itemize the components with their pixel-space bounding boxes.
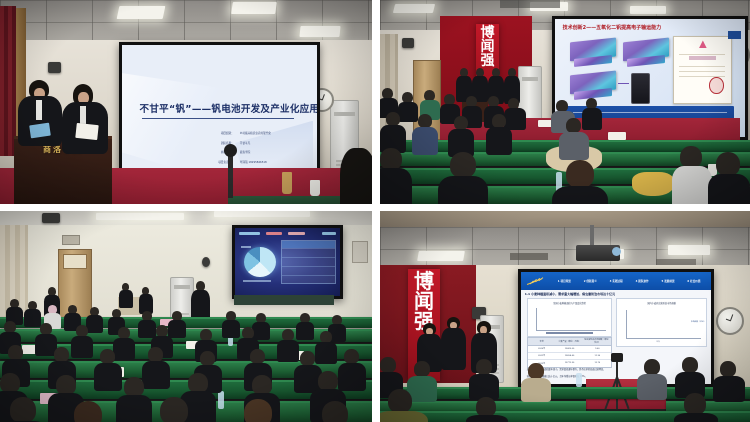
banner-char: 闻	[481, 40, 495, 54]
slide-title: 技术创新2——五氧化二钒提高电子输运能力	[563, 24, 661, 31]
foreground-person	[340, 148, 372, 204]
banner-char: 博	[414, 271, 434, 291]
patent-certificate	[673, 36, 732, 104]
meta-value: 乡村振兴和农业农村现代化	[240, 132, 271, 137]
panel-top-right: 博 闻 强 技术创新2——五氧化二钒提高电子输运能力	[380, 0, 750, 204]
chart-legend	[546, 332, 593, 334]
table-header-cell: 年份	[528, 338, 556, 345]
door-window	[63, 254, 86, 269]
meta-value: 华润瑞 18295846518	[240, 161, 267, 166]
wall-switch	[352, 241, 368, 263]
ceiling-vent	[500, 0, 560, 8]
drink-cup	[282, 172, 292, 194]
water-bottle	[576, 373, 582, 387]
ceiling-beam	[380, 211, 750, 227]
table-header	[282, 241, 335, 248]
table-cell: 2020年	[528, 345, 556, 352]
wall-speaker-icon	[42, 213, 60, 223]
pie-chart	[244, 247, 276, 277]
table-header-cell: 病虫害防治市场规模（单位：亿元）	[583, 338, 611, 345]
nav-item[interactable]: 3 实践过程	[610, 279, 623, 283]
slide-title: 不甘平“钒”——钒电池开发及产业化应用	[140, 101, 320, 115]
desk-paper	[608, 132, 626, 140]
table-cell: 2021年	[528, 352, 556, 359]
table-header-cell: 小麦产量（单位：万吨）	[556, 338, 584, 345]
projector-mount	[590, 225, 594, 247]
wall-speaker-icon	[402, 38, 414, 48]
data-table	[281, 240, 336, 284]
ceiling-vent	[510, 253, 548, 260]
held-document	[75, 123, 98, 140]
slide-navbar: 1 项目背景 2 创新意义 3 实践过程 4 团队协作 5 发展前景 6 社会价…	[521, 272, 711, 290]
meta-key: 项目组别：	[208, 132, 234, 137]
water-bottle	[218, 391, 224, 409]
banner-char: 博	[481, 26, 495, 40]
slide-badge-icon	[728, 31, 741, 39]
slide-meta-row: 项目负责人： 华润瑞 18295846518	[204, 161, 267, 166]
device-photo	[631, 73, 650, 103]
wall-speaker-icon	[48, 62, 61, 73]
ceiling-lamp	[630, 6, 666, 14]
presentation-screen: 不甘平“钒”——钒电池开发及产业化应用 项目组别： 乡村振兴和农业农村现代化 团…	[119, 42, 320, 188]
camera-tripod	[602, 353, 632, 413]
microphone-icon	[224, 144, 237, 157]
nav-item[interactable]: 6 社会价值	[687, 279, 700, 283]
certificate-logo-icon	[699, 40, 707, 48]
table-cell: 9.60	[583, 345, 611, 352]
wall-clock-icon	[716, 307, 744, 335]
certificate-heading	[689, 56, 716, 59]
table-cell: 13694.60	[556, 352, 584, 359]
panel-bottom-left	[0, 211, 372, 422]
title-underline	[142, 118, 294, 119]
certificate-seal-icon	[709, 77, 724, 94]
camera-icon	[202, 257, 210, 267]
bar-series	[536, 308, 606, 330]
banner-char: 闻	[414, 291, 434, 311]
meta-value: 不甘平凡	[240, 142, 250, 147]
bar-chart: 国内小麦病虫害防治市场规模 市场规模（亿元） 年份	[616, 298, 707, 347]
slide-logo-icon	[521, 272, 551, 290]
presentation-screen	[232, 225, 343, 299]
pie-label	[241, 246, 250, 249]
meta-value: 商洛学院	[240, 151, 250, 156]
chart-title: 全国小麦种植面积与产量变化趋势	[528, 301, 612, 305]
nav-item[interactable]: 4 团队协作	[636, 279, 649, 283]
ceiling-lamp	[96, 213, 184, 220]
slide-heading: 1.1 小麦种植面积减小，需求量大幅增加，病虫害防治市场达十亿元	[525, 292, 615, 296]
nav-item[interactable]: 2 创新意义	[584, 279, 597, 283]
held-document	[29, 123, 51, 139]
pie-label	[243, 280, 270, 283]
wheat-logo-icon	[526, 276, 547, 287]
side-curtain	[0, 6, 16, 156]
panel-bottom-right: 博 闻 强 1 项目背景 2 创新意义	[380, 211, 750, 422]
nav-item[interactable]: 5 发展前景	[661, 279, 674, 283]
ceiling-lamp	[214, 211, 310, 217]
camera-icon	[611, 353, 623, 362]
panel-top-left: 不甘平“钒”——钒电池开发及产业化应用 项目组别： 乡村振兴和农业农村现代化 团…	[0, 0, 372, 204]
slide-nav-items: 1 项目背景 2 创新意义 3 实践过程 4 团队协作 5 发展前景 6 社会价…	[551, 279, 711, 283]
wall-sign	[62, 235, 80, 245]
slide-meta-row: 项目组别： 乡村振兴和农业农村现代化	[208, 132, 271, 137]
table-cell: 13772.30	[556, 359, 584, 366]
table-row	[282, 275, 335, 285]
shirt	[36, 100, 42, 120]
ceiling-lamp	[417, 251, 465, 261]
chart-title: 国内小麦病虫害防治市场规模	[617, 301, 706, 305]
grouped-bar-chart: 全国小麦种植面积与产量变化趋势	[527, 298, 613, 337]
projector-lens-icon	[612, 247, 621, 256]
ceiling-lamp	[393, 4, 435, 13]
bar-series	[630, 311, 687, 339]
screen-mount	[234, 295, 334, 305]
nav-item[interactable]: 1 项目背景	[558, 279, 571, 283]
ceiling-lamp	[117, 6, 166, 19]
x-axis-label: 年份	[630, 340, 687, 343]
microphone-stand	[228, 150, 233, 198]
y-axis	[626, 310, 627, 339]
table-cell: 13425.00	[556, 345, 584, 352]
shirt	[80, 106, 86, 124]
photo-collage: 不甘平“钒”——钒电池开发及产业化应用 项目组别： 乡村振兴和农业农村现代化 团…	[0, 0, 750, 422]
banner-char: 强	[481, 54, 495, 68]
paper-cup	[310, 180, 320, 196]
backpack	[632, 172, 674, 196]
ceiling-lamp	[668, 245, 710, 255]
ceiling-lamp	[299, 26, 340, 37]
chart-legend: 市场规模（亿元）	[691, 320, 705, 323]
slide-title-bar	[239, 231, 336, 236]
ceiling-lamp	[231, 2, 277, 14]
diagram-arrow	[618, 83, 629, 84]
